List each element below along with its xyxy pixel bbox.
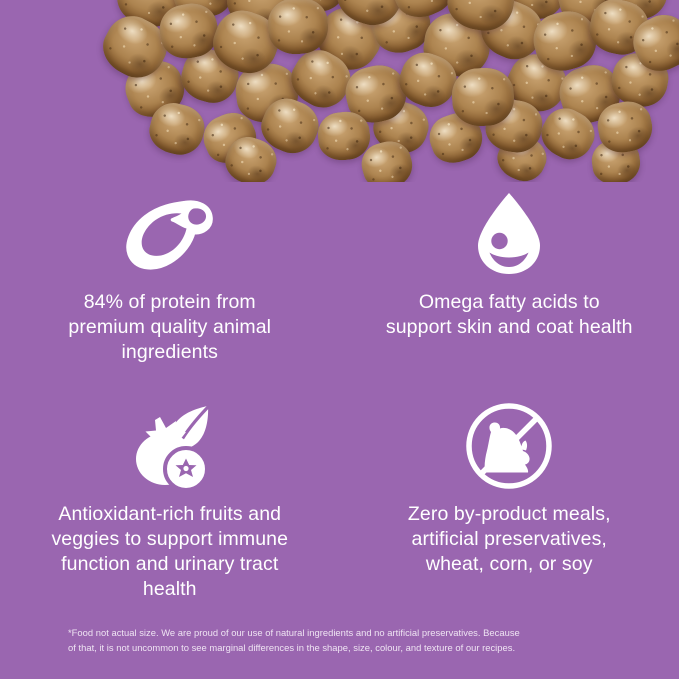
benefit-item-omega: Omega fatty acids to support skin and co… <box>340 182 679 394</box>
kibble-stage <box>0 0 679 182</box>
meat-cut-icon <box>122 190 218 278</box>
benefits-grid: 84% of protein from premium quality anim… <box>0 182 679 602</box>
disclaimer-line-1: *Food not actual size. We are proud of o… <box>68 626 620 641</box>
benefit-text-fruit: Antioxidant-rich fruits and veggies to s… <box>41 502 299 602</box>
disclaimer-line-2: of that, it is not uncommon to see margi… <box>68 641 620 656</box>
benefit-item-fruit: Antioxidant-rich fruits and veggies to s… <box>0 394 340 602</box>
benefit-text-omega: Omega fatty acids to support skin and co… <box>384 290 634 340</box>
benefit-text-zero: Zero by-product meals, artificial preser… <box>380 502 638 577</box>
benefit-item-zero: Zero by-product meals, artificial preser… <box>340 394 679 602</box>
product-benefits-infographic: 84% of protein from premium quality anim… <box>0 0 679 679</box>
benefit-text-protein: 84% of protein from premium quality anim… <box>45 290 295 365</box>
disclaimer: *Food not actual size. We are proud of o… <box>68 626 620 655</box>
benefit-item-protein: 84% of protein from premium quality anim… <box>0 182 340 394</box>
no-byproduct-prohibition-icon <box>461 402 557 490</box>
water-droplet-smile-icon <box>461 190 557 278</box>
kibble-photo <box>0 0 679 182</box>
fruit-berry-icon <box>122 402 218 490</box>
